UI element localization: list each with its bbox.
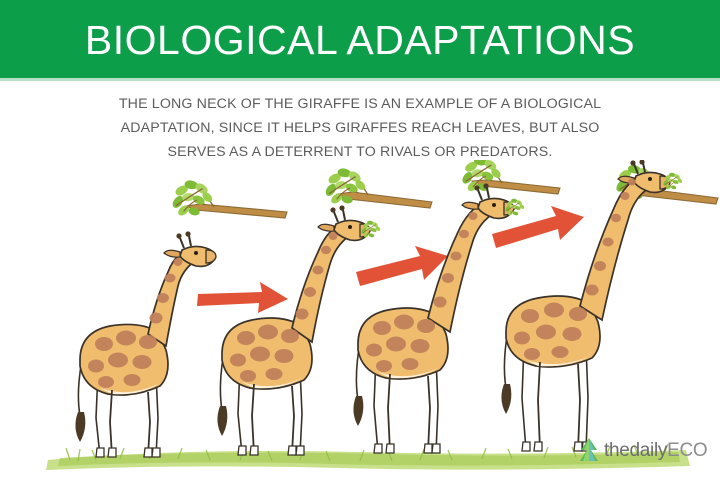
giraffe-illustration: [0, 160, 720, 480]
infographic-root: BIOLOGICAL ADAPTATIONS THE LONG NECK OF …: [0, 0, 720, 480]
page-title: BIOLOGICAL ADAPTATIONS: [0, 17, 720, 64]
leaf-cluster-1: [171, 179, 214, 217]
giraffe-1: [75, 231, 216, 457]
arrow-2: [356, 246, 448, 286]
arrow-1: [197, 282, 288, 313]
logo-text: thedailyECO: [604, 441, 707, 460]
leaf-icon: [578, 437, 600, 463]
giraffe-4: [501, 160, 683, 451]
brand-logo[interactable]: thedailyECO: [578, 437, 707, 463]
logo-text-the: thedaily: [604, 440, 667, 461]
branch-1: [171, 179, 287, 218]
giraffe-3: [353, 183, 525, 453]
branch-2: [324, 167, 432, 208]
logo-text-eco: ECO: [667, 440, 707, 461]
description-text: THE LONG NECK OF THE GIRAFFE IS AN EXAMP…: [105, 92, 615, 164]
header-banner-edge: [0, 78, 720, 81]
